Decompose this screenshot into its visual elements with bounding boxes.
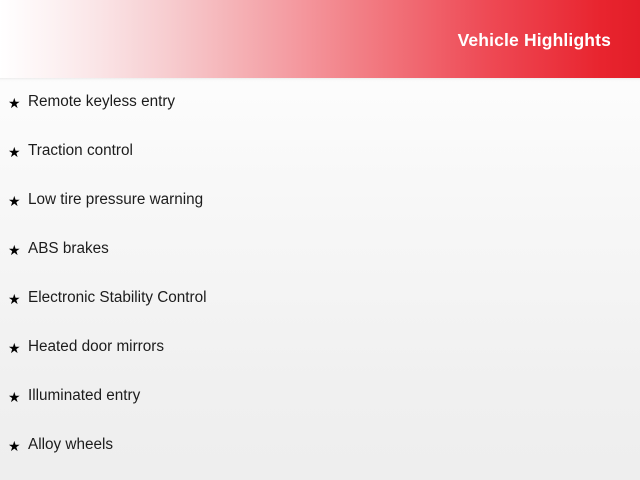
star-icon: ★ — [8, 292, 28, 306]
star-icon: ★ — [8, 243, 28, 257]
feature-label: Remote keyless entry — [28, 93, 175, 111]
list-item: ★ ABS brakes — [0, 225, 640, 274]
feature-label: Alloy wheels — [28, 436, 113, 454]
list-item: ★ Low tire pressure warning — [0, 176, 640, 225]
list-item: ★ Alloy wheels — [0, 421, 640, 470]
page-title: Vehicle Highlights — [458, 28, 640, 51]
star-icon: ★ — [8, 390, 28, 404]
feature-label: ABS brakes — [28, 240, 109, 258]
feature-label: Low tire pressure warning — [28, 191, 203, 209]
star-icon: ★ — [8, 341, 28, 355]
list-item: ★ Traction control — [0, 127, 640, 176]
star-icon: ★ — [8, 439, 28, 453]
list-item: ★ Illuminated entry — [0, 372, 640, 421]
star-icon: ★ — [8, 194, 28, 208]
star-icon: ★ — [8, 145, 28, 159]
vehicle-highlights-list: ★ Remote keyless entry ★ Traction contro… — [0, 78, 640, 470]
list-item: ★ Electronic Stability Control — [0, 274, 640, 323]
feature-label: Illuminated entry — [28, 387, 140, 405]
feature-label: Heated door mirrors — [28, 338, 164, 356]
feature-label: Traction control — [28, 142, 133, 160]
header-banner: Vehicle Highlights — [0, 0, 640, 78]
vehicle-highlights-slide: Vehicle Highlights ★ Remote keyless entr… — [0, 0, 640, 480]
feature-label: Electronic Stability Control — [28, 289, 207, 307]
star-icon: ★ — [8, 96, 28, 110]
list-item: ★ Remote keyless entry — [0, 78, 640, 127]
list-item: ★ Heated door mirrors — [0, 323, 640, 372]
